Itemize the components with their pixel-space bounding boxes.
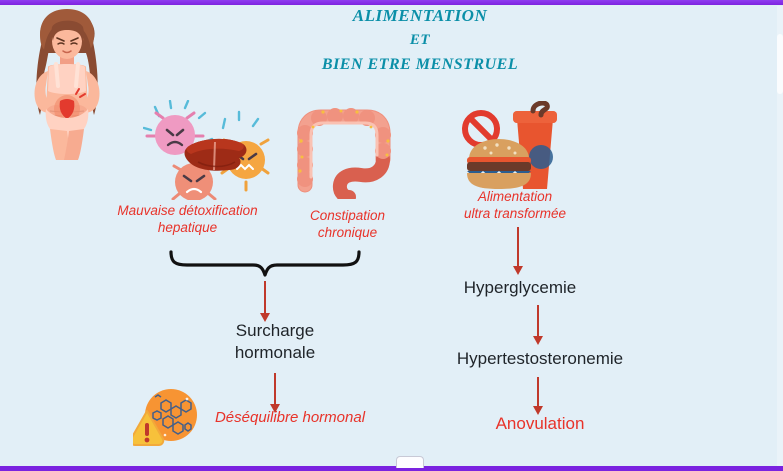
label-mauvaise-detoxification: Mauvaise détoxification hepatique (100, 202, 275, 237)
label-constipation-chronique: Constipation chronique (290, 207, 405, 242)
label-hyperglycemie: Hyperglycemie (430, 277, 610, 299)
constipation-label-line1: Constipation (290, 207, 405, 224)
label-surcharge-hormonale: Surcharge hormonale (195, 320, 355, 364)
label-desequilibre-hormonal: Déséquilibre hormonal (190, 408, 390, 427)
detox-label-line1: Mauvaise détoxification (100, 202, 275, 219)
ultra-label-line1: Alimentation (445, 188, 585, 205)
label-anovulation: Anovulation (460, 413, 620, 435)
burger-soda-no-sign-illustration (455, 101, 570, 193)
bottom-handle-tab[interactable] (396, 456, 424, 468)
constipation-label-line2: chronique (290, 224, 405, 241)
label-hypertestosteronemie: Hypertestosteronemie (420, 348, 660, 370)
slide-canvas: ALIMENTATION ET BIEN ETRE MENSTRUEL (0, 0, 783, 471)
app-bottom-bar (0, 466, 783, 471)
grouping-brace (165, 250, 365, 278)
slide-title: ALIMENTATION ET BIEN ETRE MENSTRUEL (290, 7, 550, 82)
detox-label-line2: hepatique (100, 219, 275, 236)
arrow-ultra-to-hyperglycemie (508, 227, 528, 275)
vertical-scrollbar-track[interactable] (777, 6, 783, 466)
vertical-scrollbar-thumb[interactable] (777, 34, 783, 94)
surcharge-label-line1: Surcharge (195, 320, 355, 342)
surcharge-label-line2: hormonale (195, 342, 355, 364)
arrow-brace-to-surcharge (255, 281, 275, 322)
arrow-surcharge-to-desequilibre (265, 373, 285, 413)
title-line-3: BIEN ETRE MENSTRUEL (290, 57, 550, 73)
title-line-2: ET (290, 33, 550, 48)
large-intestine-illustration (293, 107, 397, 199)
arrow-hyperglycemie-to-hypertestosteronemie (528, 305, 548, 345)
label-alimentation-ultra-transformee: Alimentation ultra transformée (445, 188, 585, 223)
title-line-1: ALIMENTATION (290, 7, 550, 24)
ultra-label-line2: ultra transformée (445, 205, 585, 222)
arrow-hypertestosteronemie-to-anovulation (528, 377, 548, 415)
woman-menstrual-pain-illustration (12, 5, 122, 160)
liver-with-angry-toxins-illustration (143, 100, 273, 200)
slide-content: ALIMENTATION ET BIEN ETRE MENSTRUEL (0, 5, 783, 463)
